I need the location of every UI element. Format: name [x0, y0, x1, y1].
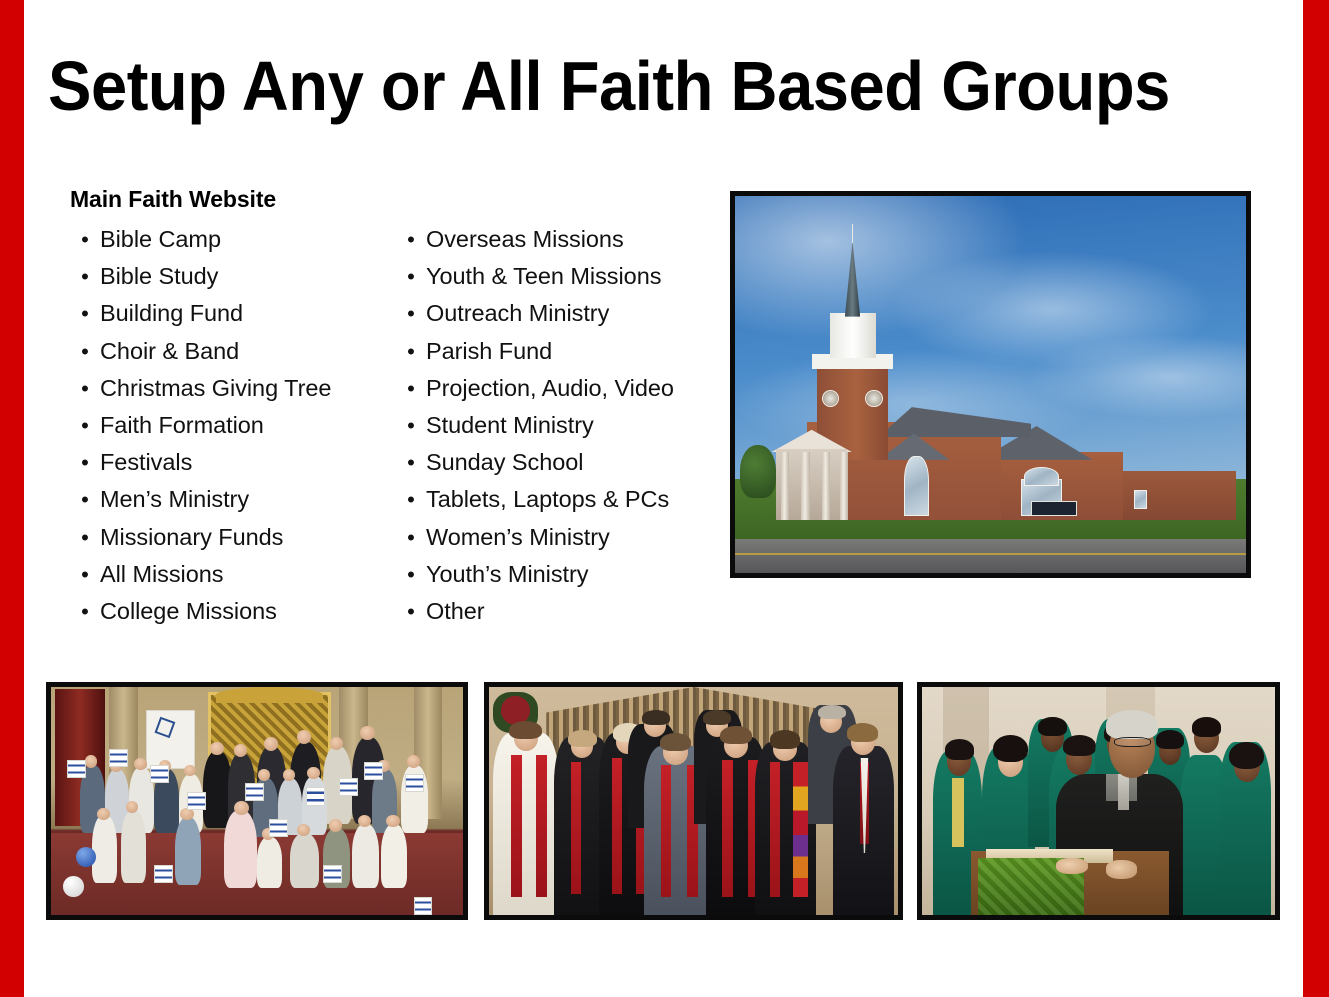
bullet-icon: •: [404, 481, 418, 518]
bullet-icon: •: [404, 258, 418, 295]
list-item-label: Other: [426, 598, 485, 624]
bullet-icon: •: [78, 481, 92, 518]
list-item-label: Parish Fund: [426, 338, 552, 364]
bullet-icon: •: [78, 556, 92, 593]
list-item: •Christmas Giving Tree: [70, 370, 390, 407]
list-item: •Other: [396, 593, 726, 630]
bullet-icon: •: [404, 295, 418, 332]
list-item: •Missionary Funds: [70, 519, 390, 556]
bullet-icon: •: [404, 221, 418, 258]
list-item: •All Missions: [70, 556, 390, 593]
list-item-label: Christmas Giving Tree: [100, 375, 331, 401]
list-item-label: Sunday School: [426, 449, 583, 475]
list-item: •Outreach Ministry: [396, 295, 726, 332]
bullet-icon: •: [404, 593, 418, 630]
list-item-label: Bible Camp: [100, 226, 221, 252]
list-item: •Student Ministry: [396, 407, 726, 444]
list-item-label: Choir & Band: [100, 338, 239, 364]
list-item: •Parish Fund: [396, 333, 726, 370]
left-bullet-column: •Bible Camp •Bible Study •Building Fund …: [70, 221, 390, 630]
list-item-label: Projection, Audio, Video: [426, 375, 674, 401]
list-item-label: Student Ministry: [426, 412, 594, 438]
list-item: •College Missions: [70, 593, 390, 630]
list-item-label: Faith Formation: [100, 412, 264, 438]
bullet-icon: •: [404, 444, 418, 481]
bullet-icon: •: [78, 333, 92, 370]
list-item-label: Bible Study: [100, 263, 218, 289]
bullet-icon: •: [78, 593, 92, 630]
clergy-group-photo: [484, 682, 903, 920]
list-item-label: Festivals: [100, 449, 192, 475]
right-red-accent-bar: [1303, 0, 1329, 997]
list-item-label: Building Fund: [100, 300, 243, 326]
list-item-label: All Missions: [100, 561, 223, 587]
list-item: •Sunday School: [396, 444, 726, 481]
list-heading: Main Faith Website: [70, 186, 276, 213]
bullet-icon: •: [78, 519, 92, 556]
list-item: •Women’s Ministry: [396, 519, 726, 556]
list-item: •Bible Study: [70, 258, 390, 295]
bullet-icon: •: [404, 370, 418, 407]
list-item: •Youth’s Ministry: [396, 556, 726, 593]
bullet-icon: •: [404, 407, 418, 444]
bullet-icon: •: [78, 258, 92, 295]
bullet-icon: •: [404, 333, 418, 370]
bullet-icon: •: [78, 407, 92, 444]
list-item-label: College Missions: [100, 598, 277, 624]
list-item-label: Overseas Missions: [426, 226, 624, 252]
list-item: •Projection, Audio, Video: [396, 370, 726, 407]
bullet-icon: •: [78, 295, 92, 332]
bullet-icon: •: [404, 556, 418, 593]
page-title: Setup Any or All Faith Based Groups: [48, 48, 1192, 124]
right-bullet-column: •Overseas Missions •Youth & Teen Mission…: [396, 221, 726, 630]
list-item: •Men’s Ministry: [70, 481, 390, 518]
list-item-label: Outreach Ministry: [426, 300, 609, 326]
list-item: •Overseas Missions: [396, 221, 726, 258]
list-item: •Tablets, Laptops & PCs: [396, 481, 726, 518]
list-item-label: Missionary Funds: [100, 524, 283, 550]
list-item: •Faith Formation: [70, 407, 390, 444]
bullet-icon: •: [78, 444, 92, 481]
bullet-icon: •: [404, 519, 418, 556]
list-item: •Festivals: [70, 444, 390, 481]
slide-canvas: Setup Any or All Faith Based Groups Main…: [0, 0, 1329, 997]
list-item-label: Youth & Teen Missions: [426, 263, 661, 289]
church-exterior-photo: [730, 191, 1251, 578]
pastor-and-choir-photo: [917, 682, 1280, 920]
left-red-accent-bar: [0, 0, 24, 997]
list-item-label: Women’s Ministry: [426, 524, 610, 550]
list-item: •Bible Camp: [70, 221, 390, 258]
list-item-label: Tablets, Laptops & PCs: [426, 486, 669, 512]
list-item-label: Men’s Ministry: [100, 486, 249, 512]
list-item-label: Youth’s Ministry: [426, 561, 588, 587]
list-item: •Choir & Band: [70, 333, 390, 370]
list-item: •Youth & Teen Missions: [396, 258, 726, 295]
bullet-icon: •: [78, 370, 92, 407]
synagogue-children-group-photo: [46, 682, 468, 920]
list-item: •Building Fund: [70, 295, 390, 332]
bullet-icon: •: [78, 221, 92, 258]
